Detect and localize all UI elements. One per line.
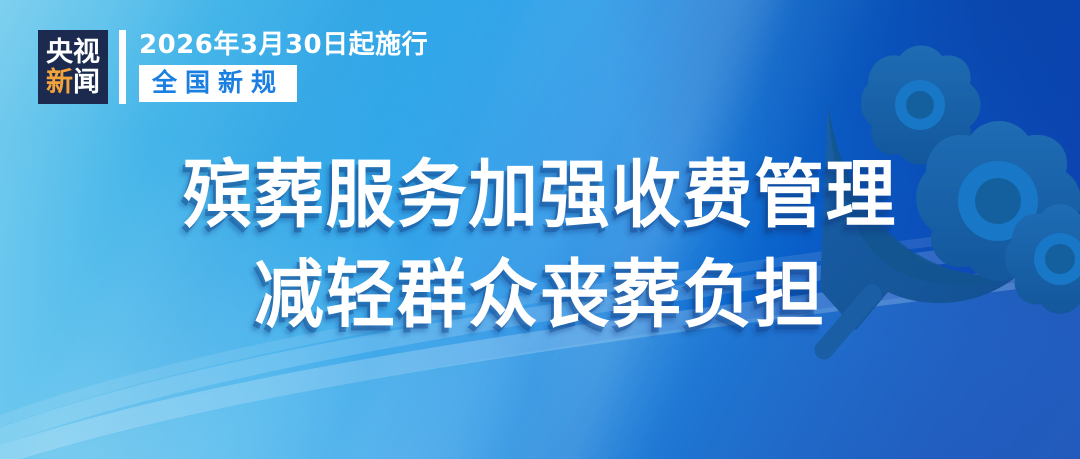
logo-char-xin: 新	[46, 69, 73, 96]
national-rules-badge: 全国新规	[139, 65, 297, 102]
logo-row-top: 央 视	[46, 39, 100, 66]
national-rules-label: 全国新规	[152, 68, 284, 97]
flower-bouquet-icon	[776, 44, 1080, 374]
news-poster: 央 视 新 闻 2026年3月30日起施行 全国新规 殡葬服务加强收费管理 减轻…	[0, 0, 1080, 459]
effective-date-label: 2026年3月30日起施行	[139, 30, 428, 60]
logo-char-wen: 闻	[73, 69, 100, 96]
cctv-news-logo[interactable]: 央 视 新 闻	[38, 30, 108, 104]
logo-char-shi: 视	[73, 39, 100, 66]
header-text-block: 2026年3月30日起施行 全国新规	[139, 30, 428, 108]
header-divider	[119, 30, 126, 104]
logo-row-bottom: 新 闻	[46, 69, 100, 96]
bottom-left-glow	[0, 99, 600, 459]
header: 央 视 新 闻 2026年3月30日起施行 全国新规	[38, 30, 428, 108]
logo-char-yang: 央	[46, 39, 73, 66]
